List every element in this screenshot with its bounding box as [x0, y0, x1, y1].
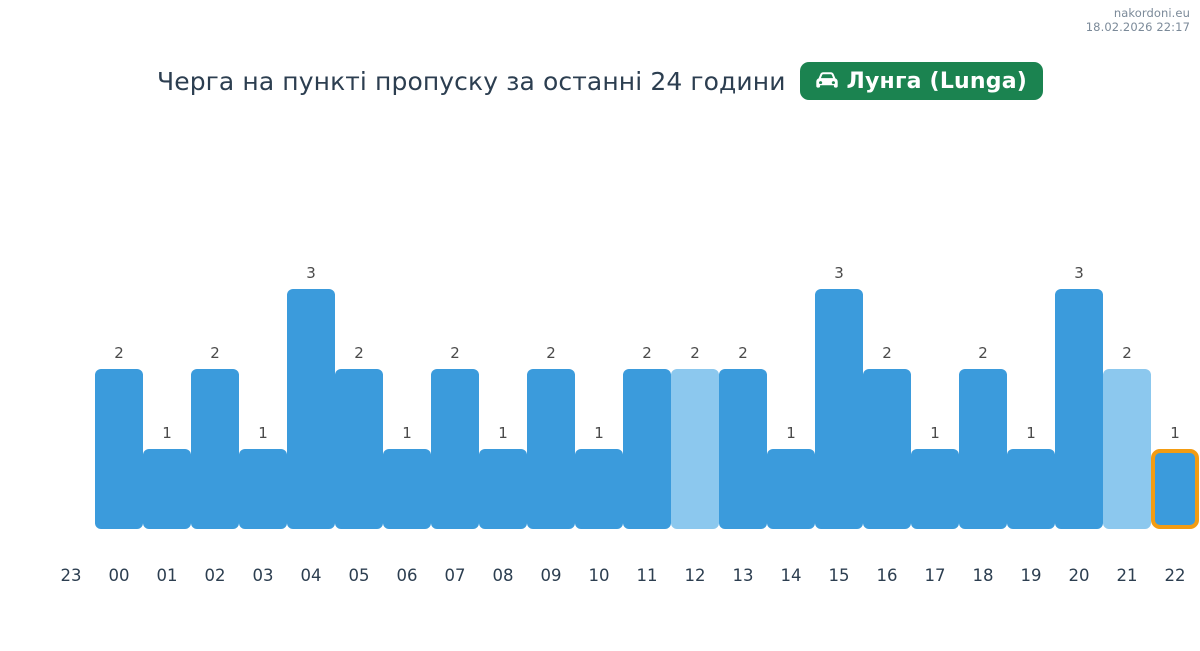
bar-slot[interactable]: 1	[239, 229, 287, 529]
x-axis-label: 17	[911, 566, 959, 585]
bar-value-label: 2	[431, 344, 479, 362]
bar[interactable]	[191, 369, 239, 529]
bar[interactable]	[335, 369, 383, 529]
x-axis-label: 23	[47, 566, 95, 585]
bar-value-label: 3	[1055, 264, 1103, 282]
x-axis-label: 14	[767, 566, 815, 585]
bar-slot[interactable]: 1	[143, 229, 191, 529]
bar-value-label: 1	[143, 424, 191, 442]
bar-slot[interactable]: 1	[575, 229, 623, 529]
x-axis-label: 20	[1055, 566, 1103, 585]
bar-slot[interactable]: 2	[335, 229, 383, 529]
bar-slot[interactable]: 2	[1103, 229, 1151, 529]
x-axis-label: 22	[1151, 566, 1199, 585]
bar[interactable]	[1103, 369, 1151, 529]
bar-value-label: 2	[335, 344, 383, 362]
bar-value-label: 1	[575, 424, 623, 442]
bar-value-label: 3	[815, 264, 863, 282]
bar-value-label: 2	[671, 344, 719, 362]
bar-current[interactable]	[1151, 449, 1199, 529]
bar-value-label: 1	[479, 424, 527, 442]
bar-slot[interactable]: 3	[815, 229, 863, 529]
bar-chart: 2320010120210330420510620710820911021121…	[0, 0, 1200, 651]
bar[interactable]	[575, 449, 623, 529]
bar-slot[interactable]: 2	[95, 229, 143, 529]
bar-slot[interactable]	[47, 229, 95, 529]
bar[interactable]	[671, 369, 719, 529]
bar-value-label: 2	[1103, 344, 1151, 362]
bar[interactable]	[239, 449, 287, 529]
bar[interactable]	[719, 369, 767, 529]
x-axis-label: 02	[191, 566, 239, 585]
bar-value-label: 2	[95, 344, 143, 362]
bar-value-label: 1	[239, 424, 287, 442]
x-axis-label: 00	[95, 566, 143, 585]
bar-value-label: 2	[527, 344, 575, 362]
bar[interactable]	[767, 449, 815, 529]
bar[interactable]	[479, 449, 527, 529]
bar-slot[interactable]: 1	[383, 229, 431, 529]
bar[interactable]	[1055, 289, 1103, 529]
bar-value-label: 1	[1007, 424, 1055, 442]
x-axis-label: 03	[239, 566, 287, 585]
bar[interactable]	[959, 369, 1007, 529]
x-axis-label: 05	[335, 566, 383, 585]
x-axis-label: 16	[863, 566, 911, 585]
x-axis-label: 04	[287, 566, 335, 585]
x-axis-label: 07	[431, 566, 479, 585]
bar[interactable]	[431, 369, 479, 529]
bar-slot[interactable]: 2	[863, 229, 911, 529]
bar-slot[interactable]: 1	[767, 229, 815, 529]
bar-value-label: 2	[719, 344, 767, 362]
x-axis-label: 08	[479, 566, 527, 585]
bar[interactable]	[527, 369, 575, 529]
bar[interactable]	[287, 289, 335, 529]
bar[interactable]	[623, 369, 671, 529]
bar-slot[interactable]: 2	[191, 229, 239, 529]
bar-value-label: 1	[911, 424, 959, 442]
bar[interactable]	[383, 449, 431, 529]
x-axis-label: 12	[671, 566, 719, 585]
bar-slot[interactable]: 1	[479, 229, 527, 529]
bar-slot[interactable]: 2	[623, 229, 671, 529]
bar-value-label: 1	[1151, 424, 1199, 442]
bar-value-label: 3	[287, 264, 335, 282]
x-axis-label: 13	[719, 566, 767, 585]
bar[interactable]	[863, 369, 911, 529]
bar[interactable]	[95, 369, 143, 529]
x-axis-label: 15	[815, 566, 863, 585]
bar-slot[interactable]: 2	[959, 229, 1007, 529]
x-axis-label: 19	[1007, 566, 1055, 585]
bar-slot[interactable]: 2	[671, 229, 719, 529]
bar-slot[interactable]: 1	[1007, 229, 1055, 529]
bar-slot[interactable]: 2	[719, 229, 767, 529]
bar-value-label: 2	[959, 344, 1007, 362]
bar[interactable]	[911, 449, 959, 529]
x-axis-label: 09	[527, 566, 575, 585]
bar-slot[interactable]: 2	[431, 229, 479, 529]
bar-value-label: 1	[383, 424, 431, 442]
x-axis-label: 18	[959, 566, 1007, 585]
bar-value-label: 2	[863, 344, 911, 362]
bar-slot[interactable]: 1	[911, 229, 959, 529]
bar-slot[interactable]: 2	[527, 229, 575, 529]
x-axis-label: 11	[623, 566, 671, 585]
bar-slot[interactable]: 3	[1055, 229, 1103, 529]
bar-value-label: 1	[767, 424, 815, 442]
x-axis-label: 06	[383, 566, 431, 585]
bar[interactable]	[143, 449, 191, 529]
bar[interactable]	[1007, 449, 1055, 529]
bar[interactable]	[815, 289, 863, 529]
bar-value-label: 2	[191, 344, 239, 362]
bar-slot[interactable]: 3	[287, 229, 335, 529]
x-axis-label: 10	[575, 566, 623, 585]
x-axis-label: 21	[1103, 566, 1151, 585]
x-axis-label: 01	[143, 566, 191, 585]
bar-value-label: 2	[623, 344, 671, 362]
bar-slot[interactable]: 1	[1151, 229, 1199, 529]
